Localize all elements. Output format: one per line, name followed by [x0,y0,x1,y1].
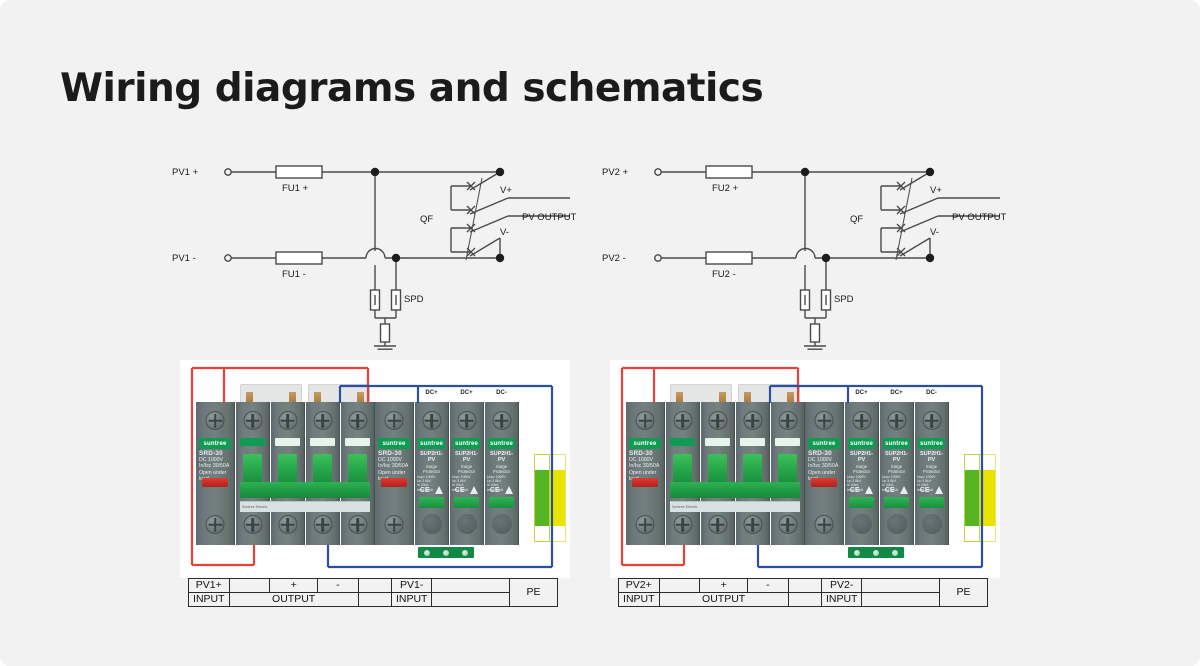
table-row: INPUT OUTPUT INPUT [619,593,988,607]
label-output-negative: V- [500,227,509,238]
label-fuse-negative: FU1 - [282,269,306,280]
label-output-positive: V+ [930,185,942,196]
legend-pv1: PV1+ + - PV1- PE INPUT OUTPUT INPUT [188,578,558,606]
legend-cell-empty [432,579,509,593]
legend-cell-pv-negative: PV1- [391,579,432,593]
table-row: INPUT OUTPUT INPUT [189,593,558,607]
legend-cell-empty [358,593,391,607]
label-spd: SPD [404,294,424,305]
legend-cell-pe: PE [939,579,987,607]
legend-cell-empty [862,579,939,593]
legend-cell-pv-negative: PV2- [821,579,862,593]
legend-cell-empty [358,579,391,593]
label-breaker: QF [420,214,433,225]
legend-cell-empty [432,593,509,607]
label-spd: SPD [834,294,854,305]
legend-cell-empty [862,593,939,607]
legend-cell-input-left: INPUT [619,593,660,607]
legend-cell-output: OUTPUT [229,593,358,607]
assembly-pv1: suntree SRD-30 DC 1000V In/Isc 30/50A Op… [180,360,570,578]
label-breaker: QF [850,214,863,225]
label-pv-output: PV OUTPUT [952,212,1007,223]
legend-cell-output: OUTPUT [659,593,788,607]
table-row: PV2+ + - PV2- PE [619,579,988,593]
assembly-pv2: suntree SRD-30 DC 1000V In/Isc 30/50A Op… [610,360,1000,578]
schematic-pv2: PV2 + PV2 - FU2 + FU2 - QF V+ V- PV OUTP… [600,150,1020,350]
label-input-negative: PV1 - [172,253,196,264]
legend-pv2: PV2+ + - PV2- PE INPUT OUTPUT INPUT [618,578,988,606]
label-input-positive: PV1 + [172,167,199,178]
legend-cell-pe: PE [509,579,557,607]
legend-cell-empty [788,593,821,607]
legend-cell-empty [229,579,270,593]
label-input-negative: PV2 - [602,253,626,264]
legend-cell-input-right: INPUT [821,593,862,607]
legend-cell-input-left: INPUT [189,593,230,607]
legend-cell-output-negative: - [748,579,789,593]
page-title: Wiring diagrams and schematics [60,66,763,111]
label-fuse-positive: FU1 + [282,183,309,194]
label-input-positive: PV2 + [602,167,629,178]
legend-cell-empty [659,579,700,593]
legend-cell-pv-positive: PV1+ [189,579,230,593]
schematic-pv1-svg: PV1 + PV1 - FU1 + FU1 - QF V+ V- PV OUTP… [170,150,590,350]
schematic-pv1: PV1 + PV1 - FU1 + FU1 - QF V+ V- PV OUTP… [170,150,590,350]
label-pv-output: PV OUTPUT [522,212,577,223]
legend-cell-input-right: INPUT [391,593,432,607]
table-row: PV1+ + - PV1- PE [189,579,558,593]
wiring-overlay [610,360,1000,578]
legend-table: PV1+ + - PV1- PE INPUT OUTPUT INPUT [188,578,558,607]
legend-cell-pv-positive: PV2+ [619,579,660,593]
legend-cell-empty [788,579,821,593]
legend-cell-output-negative: - [318,579,359,593]
legend-cell-output-positive: + [270,579,318,593]
label-fuse-positive: FU2 + [712,183,739,194]
wiring-overlay [180,360,570,578]
label-output-negative: V- [930,227,939,238]
legend-table: PV2+ + - PV2- PE INPUT OUTPUT INPUT [618,578,988,607]
wiring-diagram-page: Wiring diagrams and schematics [0,0,1200,666]
label-fuse-negative: FU2 - [712,269,736,280]
schematic-pv2-svg: PV2 + PV2 - FU2 + FU2 - QF V+ V- PV OUTP… [600,150,1020,350]
legend-cell-output-positive: + [700,579,748,593]
label-output-positive: V+ [500,185,512,196]
